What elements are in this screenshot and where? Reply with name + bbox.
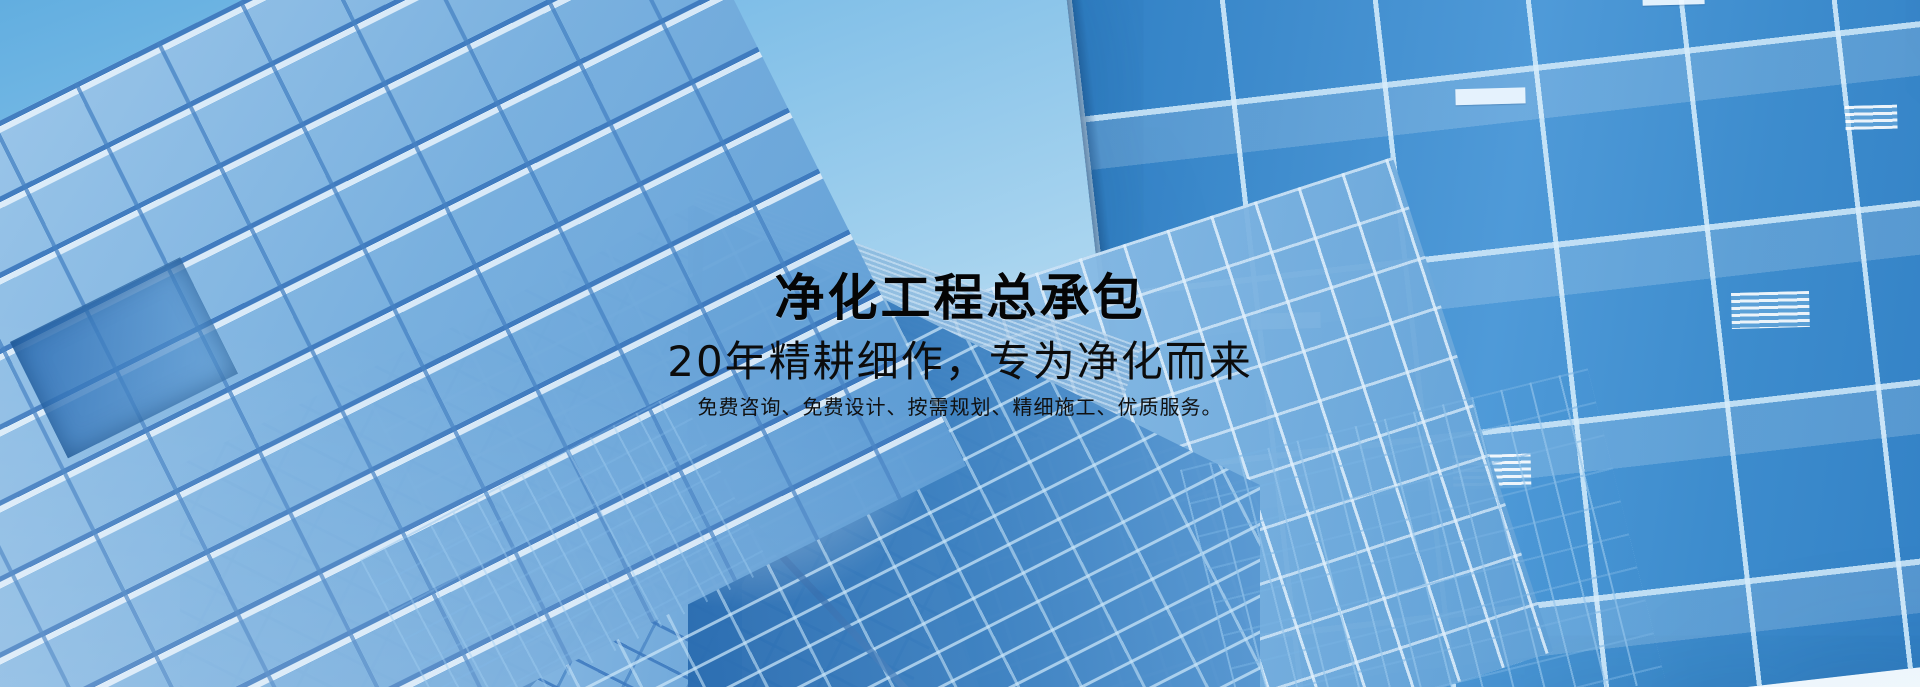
hero-tagline: 免费咨询、免费设计、按需规划、精细施工、优质服务。 xyxy=(0,395,1920,419)
hero-banner: 净化工程总承包 20年精耕细作，专为净化而来 免费咨询、免费设计、按需规划、精细… xyxy=(0,0,1920,687)
hero-copy-block: 净化工程总承包 20年精耕细作，专为净化而来 免费咨询、免费设计、按需规划、精细… xyxy=(0,272,1920,419)
window-sticker xyxy=(1455,87,1525,105)
hero-headline: 净化工程总承包 xyxy=(0,272,1920,325)
louver-vent xyxy=(1845,105,1898,130)
hero-subheadline: 20年精耕细作，专为净化而来 xyxy=(0,339,1920,385)
